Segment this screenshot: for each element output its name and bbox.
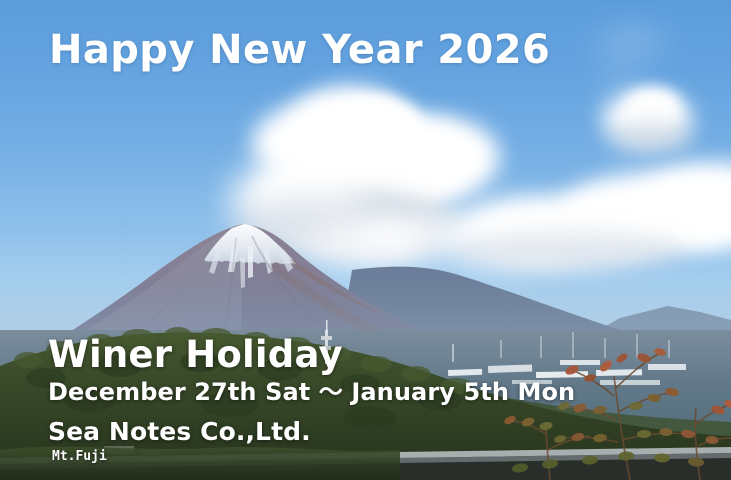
holiday-title: Winer Holiday xyxy=(48,336,343,373)
new-year-card: Happy New Year 2026 Winer Holiday Decemb… xyxy=(0,0,731,480)
company-name: Sea Notes Co.,Ltd. xyxy=(48,419,311,444)
greeting-headline: Happy New Year 2026 xyxy=(49,30,550,70)
holiday-dates: December 27th Sat ～ January 5th Mon xyxy=(48,380,575,404)
photo-caption: Mt.Fuji xyxy=(52,450,107,463)
